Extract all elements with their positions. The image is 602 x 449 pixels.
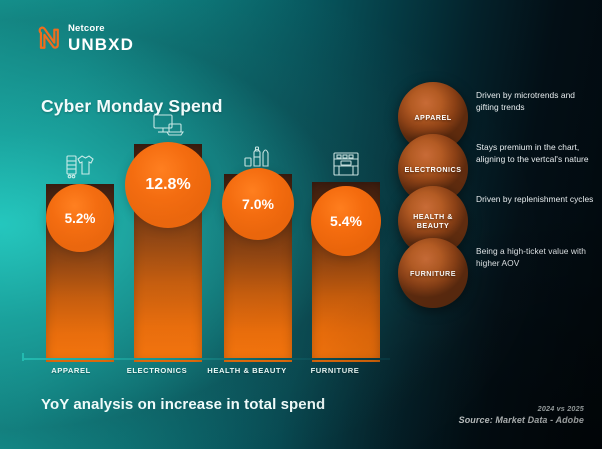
insight-sphere-furniture: FURNITURE: [398, 238, 468, 308]
category-label-furniture: FURNITURE: [295, 366, 375, 375]
netcore-n-logo-icon: [38, 26, 60, 50]
insight-sphere-label: HEALTH & BEAUTY: [398, 212, 468, 230]
bar-value-bubble-furniture: 5.4%: [311, 186, 381, 256]
infographic-slide: Netcore UNBXD Cyber Monday Spend 5.2%: [0, 0, 602, 449]
bar-column-furniture[interactable]: 5.4%: [312, 182, 380, 362]
bar-value-bubble-electronics: 12.8%: [125, 142, 211, 228]
category-label-health-beauty: HEALTH & BEAUTY: [203, 366, 291, 375]
insight-text-electronics: Stays premium in the chart, aligning to …: [476, 142, 598, 166]
bar-value-bubble-health-beauty: 7.0%: [222, 168, 294, 240]
bar-value-label: 5.2%: [65, 211, 96, 226]
electronics-icon: [152, 112, 184, 140]
page-title: Cyber Monday Spend: [41, 96, 223, 117]
health-beauty-icon: [243, 142, 273, 170]
bar-column-apparel[interactable]: 5.2%: [46, 184, 114, 362]
bar-value-bubble-apparel: 5.2%: [46, 184, 114, 252]
apparel-icon: [65, 152, 95, 180]
footer-meta: 2024 vs 2025 Source: Market Data - Adobe: [459, 404, 584, 427]
chart-axis-cap: [22, 353, 24, 361]
brand-logo: Netcore UNBXD: [38, 24, 134, 53]
insight-text-furniture: Being a high-ticket value with higher AO…: [476, 246, 598, 270]
footer-source: Source: Market Data - Adobe: [459, 414, 584, 427]
bar-value-label: 12.8%: [145, 176, 190, 194]
bar-value-label: 7.0%: [242, 196, 274, 212]
insight-row-furniture[interactable]: FURNITURE Being a high-ticket value with…: [398, 238, 598, 300]
footer-headline: YoY analysis on increase in total spend: [41, 396, 325, 413]
brand-name-large: UNBXD: [68, 36, 134, 53]
insight-sphere-label: FURNITURE: [406, 269, 460, 278]
insight-text-health-beauty: Driven by replenishment cycles: [476, 194, 598, 206]
brand-name-small: Netcore: [68, 24, 134, 34]
insights-panel: APPAREL Driven by microtrends and giftin…: [398, 82, 598, 282]
chart-axis-line: [22, 358, 390, 360]
bar-column-health-beauty[interactable]: 7.0%: [224, 174, 292, 362]
bar-column-electronics[interactable]: 12.8%: [134, 144, 202, 362]
insight-sphere-label: ELECTRONICS: [400, 165, 465, 174]
bar-chart: 5.2% 12.8%: [34, 140, 390, 362]
insight-sphere-label: APPAREL: [410, 113, 455, 122]
bar-value-label: 5.4%: [330, 213, 362, 229]
category-label-apparel: APPAREL: [36, 366, 106, 375]
furniture-icon: [331, 150, 361, 178]
footer-years: 2024 vs 2025: [459, 404, 584, 414]
category-label-electronics: ELECTRONICS: [119, 366, 195, 375]
insight-text-apparel: Driven by microtrends and gifting trends: [476, 90, 598, 114]
